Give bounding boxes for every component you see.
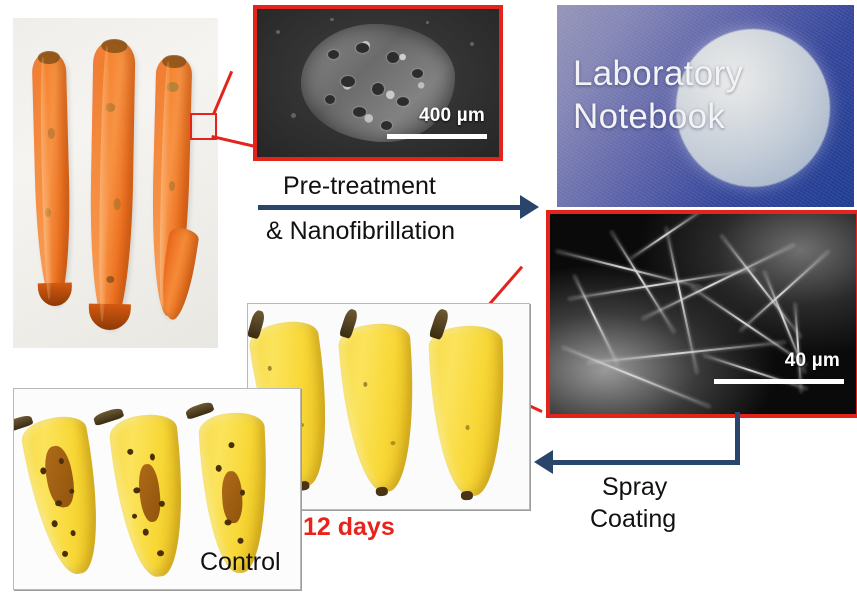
sem-pore <box>356 43 369 53</box>
coated-banana-2 <box>337 322 421 495</box>
notebook-title: Laboratory Notebook <box>573 53 803 138</box>
banana-spot <box>70 530 76 537</box>
sem-network-background <box>550 214 856 414</box>
sem-400um-scale-label: 400 µm <box>419 105 485 127</box>
carrot-crown <box>101 39 128 54</box>
sem-pore <box>353 107 366 117</box>
carrot-blemish <box>166 82 178 92</box>
banana-spot <box>237 537 243 543</box>
graphical-abstract-stage: 400 µm Pre-treatment & Nanofibrillation … <box>0 0 857 596</box>
sem-40um-scale-label: 40 µm <box>785 350 840 372</box>
arrow-pretreatment-label-line1: Pre-treatment <box>283 172 436 201</box>
sem-nanofibril-network: 40 µm <box>546 210 857 418</box>
arrow-pretreatment-shaft <box>258 205 520 210</box>
carrot-blemish <box>44 208 50 217</box>
laboratory-notebook-photo: Laboratory Notebook <box>557 5 854 207</box>
sem-pore <box>341 76 355 87</box>
control-banana-1 <box>19 412 111 579</box>
banana-body <box>337 322 421 495</box>
banana-spot <box>228 442 234 448</box>
carrot-photograph <box>13 18 218 348</box>
banana-spot <box>224 519 231 525</box>
banana-tip <box>460 491 472 500</box>
carrot-2 <box>88 40 135 329</box>
coated-banana-3 <box>428 325 508 497</box>
banana-spot <box>61 550 68 557</box>
carrot-blemish <box>105 103 115 112</box>
banana-body <box>428 325 508 497</box>
sem-speckle <box>470 42 474 46</box>
banana-spot <box>363 382 367 387</box>
sem-400um-scale-bar <box>387 134 487 139</box>
carrot-crown <box>38 51 60 64</box>
sem-pore <box>397 97 409 106</box>
banana-tip <box>376 487 389 497</box>
carrot-blemish <box>106 276 114 283</box>
carrot-blemish <box>47 128 54 139</box>
carrot-blemish <box>114 198 121 210</box>
carrot-crown <box>163 55 186 69</box>
banana-spot <box>390 441 395 445</box>
notebook-title-line1: Laboratory <box>573 53 803 96</box>
arrow-spray-label-line2: Coating <box>590 505 676 534</box>
control-banana-caption: Control <box>200 548 281 577</box>
arrow-pretreatment-head <box>520 195 539 219</box>
sem-pore <box>412 69 423 78</box>
arrow-spray-head <box>534 450 553 474</box>
sem-pore <box>328 50 339 59</box>
sem-pore <box>325 95 335 104</box>
banana-spot <box>215 465 221 472</box>
notebook-title-line2: Notebook <box>573 96 803 139</box>
carrot-tip <box>38 283 73 307</box>
sem-40um-scale-bar <box>714 379 844 384</box>
sem-pore <box>387 52 399 63</box>
arrow-spray-horizontal <box>553 460 740 465</box>
sem-pore <box>381 121 392 130</box>
sem-speckle <box>330 18 334 21</box>
sem-pore <box>372 83 384 95</box>
arrow-spray-vertical <box>735 412 740 465</box>
control-banana-2 <box>108 412 193 580</box>
banana-spot <box>466 425 470 430</box>
carrot-1 <box>32 52 73 305</box>
carrot-tip <box>88 304 130 331</box>
coated-banana-caption: 12 days <box>303 513 395 542</box>
arrow-pretreatment-label-line2: & Nanofibrillation <box>266 217 455 246</box>
carrot-blemish <box>169 181 175 191</box>
sem-carrot-particle: 400 µm <box>253 5 503 161</box>
sem-speckle <box>291 113 296 118</box>
arrow-spray-label-line1: Spray <box>602 473 667 502</box>
